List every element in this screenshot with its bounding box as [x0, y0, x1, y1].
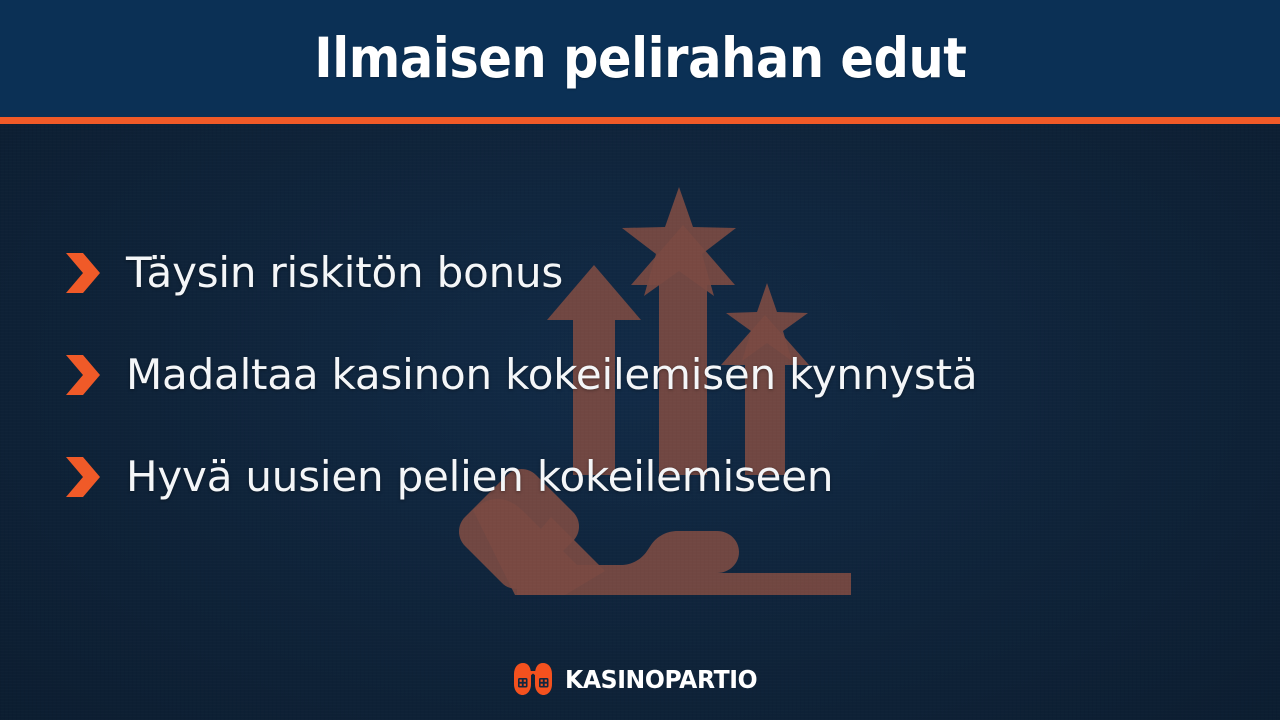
list-item: Hyvä uusien pelien kokeilemiseen	[0, 426, 1280, 528]
header-divider	[0, 117, 1280, 124]
list-item: Täysin riskitön bonus	[0, 222, 1280, 324]
slide-header: Ilmaisen pelirahan edut	[0, 0, 1280, 117]
benefits-list: Täysin riskitön bonus Madaltaa kasinon k…	[0, 222, 1280, 528]
chevron-right-icon	[66, 457, 100, 497]
page-title: Ilmaisen pelirahan edut	[314, 31, 966, 86]
list-item-label: Täysin riskitön bonus	[126, 252, 563, 294]
binoculars-dice-icon	[510, 662, 556, 696]
chevron-right-icon	[66, 253, 100, 293]
brand-logo-text: KASINOPARTIO	[565, 667, 757, 692]
list-item: Madaltaa kasinon kokeilemisen kynnystä	[0, 324, 1280, 426]
chevron-right-icon	[66, 355, 100, 395]
slide: Ilmaisen pelirahan edut Täysin riskitön …	[0, 0, 1280, 720]
list-item-label: Hyvä uusien pelien kokeilemiseen	[126, 456, 833, 498]
brand-logo: KASINOPARTIO	[0, 662, 1280, 696]
list-item-label: Madaltaa kasinon kokeilemisen kynnystä	[126, 354, 977, 396]
